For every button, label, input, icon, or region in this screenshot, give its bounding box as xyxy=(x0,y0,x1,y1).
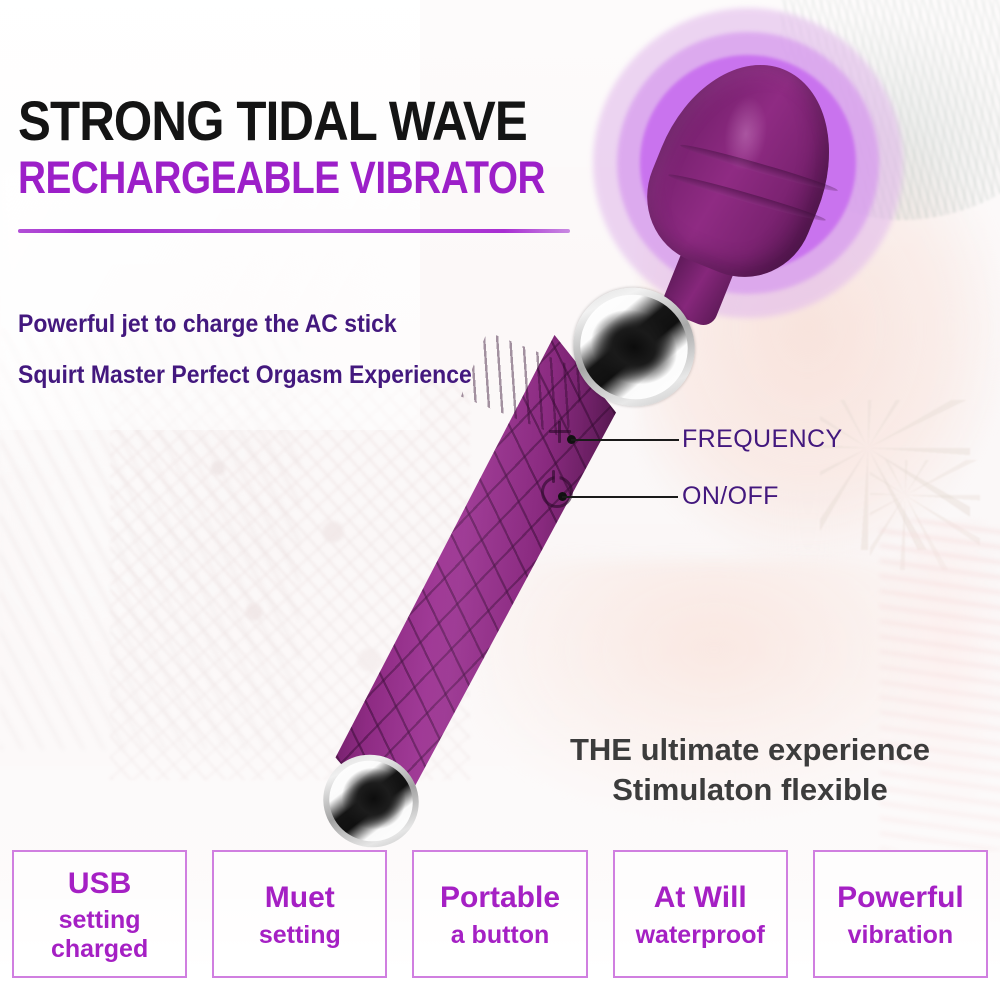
feature-box-portable: Portable a button xyxy=(412,850,587,978)
tagline: THE ultimate experience Stimulaton flexi… xyxy=(520,730,980,809)
callout-leader-frequency xyxy=(571,439,679,441)
feature-title: At Will xyxy=(654,881,747,915)
callout-label-frequency: FREQUENCY xyxy=(682,425,843,454)
feature-title: Portable xyxy=(440,881,560,915)
feature-subtitle-line-1: a button xyxy=(451,921,550,950)
feature-subtitle-line-1: setting xyxy=(259,921,341,950)
title-divider xyxy=(18,229,570,233)
power-button-stem-icon xyxy=(552,470,555,483)
subcopy-line-2: Squirt Master Perfect Orgasm Experience xyxy=(18,361,472,390)
feature-subtitle-line-1: vibration xyxy=(848,921,954,950)
subcopy-line-1: Powerful jet to charge the AC stick xyxy=(18,310,397,339)
callout-leader-onoff xyxy=(562,496,678,498)
feature-box-powerful: Powerful vibration xyxy=(813,850,988,978)
feature-subtitle-line-2: charged xyxy=(51,935,148,964)
head-body xyxy=(626,38,861,297)
callout-label-onoff: ON/OFF xyxy=(682,482,779,511)
feature-box-usb: USB setting charged xyxy=(12,850,187,978)
feature-title: USB xyxy=(68,867,131,901)
feature-subtitle-line-1: setting xyxy=(59,906,141,935)
tagline-line-1: THE ultimate experience xyxy=(520,730,980,770)
feature-box-at-will: At Will waterproof xyxy=(613,850,788,978)
page-subtitle: RECHARGEABLE VIBRATOR xyxy=(18,152,545,204)
feature-box-row: USB setting charged Muet setting Portabl… xyxy=(12,850,988,978)
page-title: STRONG TIDAL WAVE xyxy=(18,88,527,153)
feature-subtitle-line-1: waterproof xyxy=(636,921,765,950)
product-marketing-banner: STRONG TIDAL WAVE RECHARGEABLE VIBRATOR … xyxy=(0,0,1000,1000)
feature-title: Muet xyxy=(265,881,335,915)
tagline-line-2: Stimulaton flexible xyxy=(520,770,980,810)
feature-box-muet: Muet setting xyxy=(212,850,387,978)
feature-title: Powerful xyxy=(837,881,964,915)
